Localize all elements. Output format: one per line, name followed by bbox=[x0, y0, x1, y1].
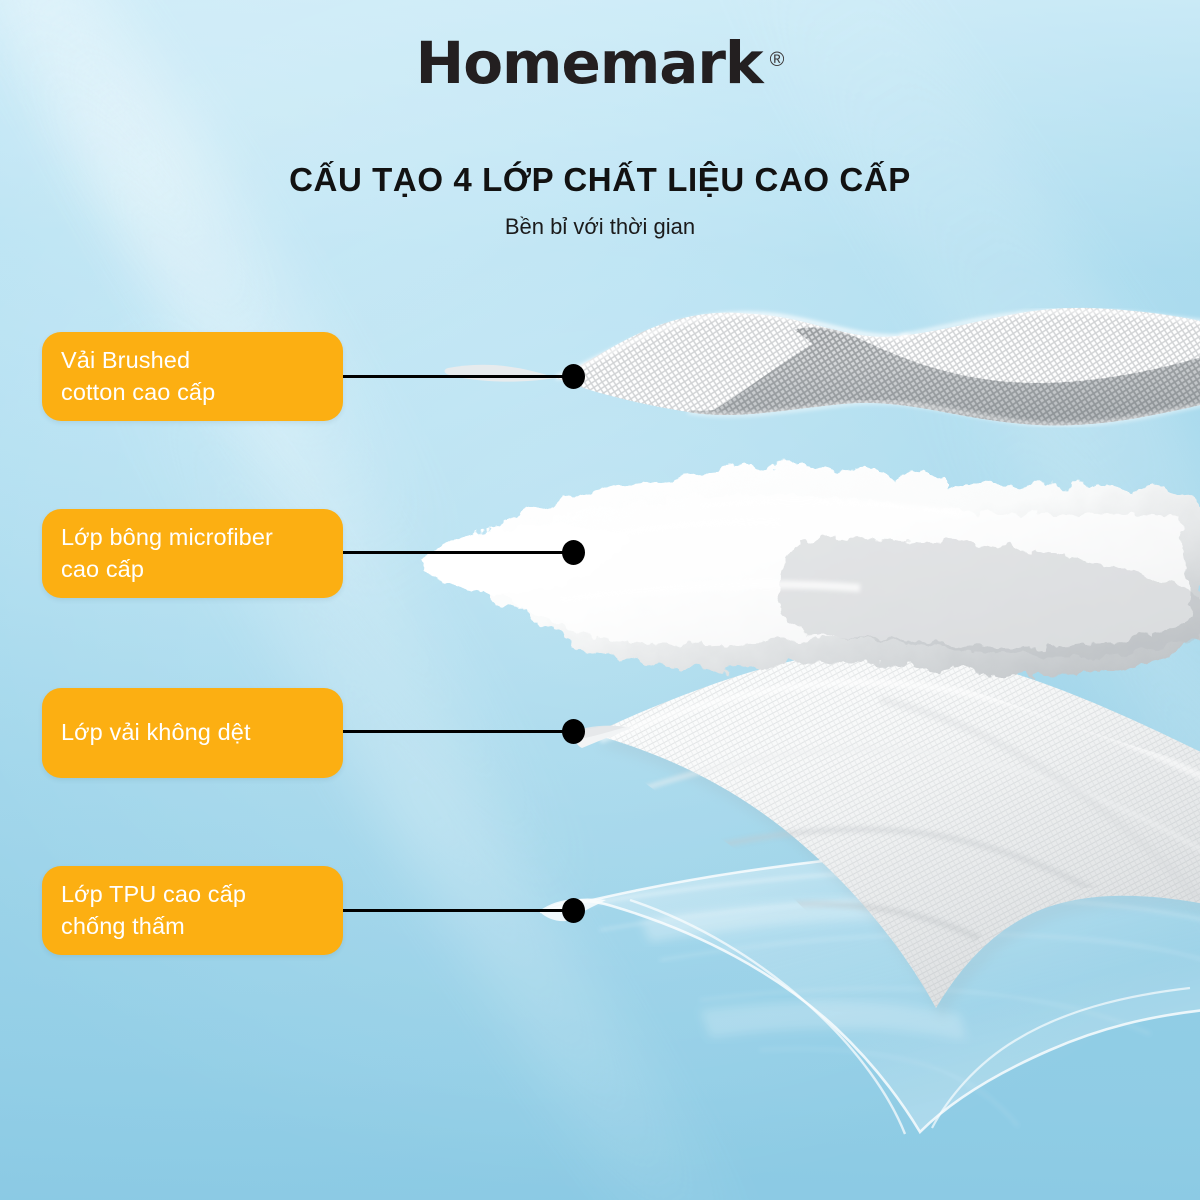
callout-layer-4-line-1: Lớp TPU cao cấp bbox=[61, 881, 246, 907]
callout-layer-4: Lớp TPU cao cấp chống thấm bbox=[42, 866, 343, 955]
callout-layer-2: Lớp bông microfiber cao cấp bbox=[42, 509, 343, 598]
leader-dot-layer-3 bbox=[562, 719, 585, 744]
brand-logo: Homemark® bbox=[0, 34, 1200, 92]
poster-canvas: Homemark® CẤU TẠO 4 LỚP CHẤT LIỆU CAO CẤ… bbox=[0, 0, 1200, 1200]
callout-layer-4-line-2: chống thấm bbox=[61, 913, 185, 939]
callout-layer-1-line-2: cotton cao cấp bbox=[61, 379, 215, 405]
callout-layer-1-line-1: Vải Brushed bbox=[61, 347, 190, 373]
callout-layer-3: Lớp vải không dệt bbox=[42, 688, 343, 778]
page-subtitle: Bền bỉ với thời gian bbox=[0, 213, 1200, 241]
leader-line-layer-3 bbox=[343, 730, 575, 733]
leader-line-layer-4 bbox=[343, 909, 575, 912]
callout-layer-2-line-2: cao cấp bbox=[61, 556, 144, 582]
layer-brushed-cotton bbox=[445, 308, 1200, 426]
brand-logo-text: Homemark bbox=[416, 34, 763, 92]
leader-dot-layer-2 bbox=[562, 540, 585, 565]
leader-line-layer-2 bbox=[343, 551, 575, 554]
callout-layer-2-text: Lớp bông microfiber cao cấp bbox=[61, 522, 273, 584]
callout-layer-3-text: Lớp vải không dệt bbox=[61, 717, 251, 748]
callout-layer-3-line-1: Lớp vải không dệt bbox=[61, 719, 251, 745]
registered-trademark-icon: ® bbox=[770, 50, 785, 70]
layer-microfiber-batting bbox=[420, 465, 1200, 676]
callout-layer-4-text: Lớp TPU cao cấp chống thấm bbox=[61, 879, 246, 941]
leader-dot-layer-4 bbox=[562, 898, 585, 923]
page-title: CẤU TẠO 4 LỚP CHẤT LIỆU CAO CẤP bbox=[0, 160, 1200, 200]
callout-layer-1: Vải Brushed cotton cao cấp bbox=[42, 332, 343, 421]
callout-layer-2-line-1: Lớp bông microfiber bbox=[61, 524, 273, 550]
callout-layer-1-text: Vải Brushed cotton cao cấp bbox=[61, 345, 215, 407]
leader-dot-layer-1 bbox=[562, 364, 585, 389]
leader-line-layer-1 bbox=[343, 375, 575, 378]
